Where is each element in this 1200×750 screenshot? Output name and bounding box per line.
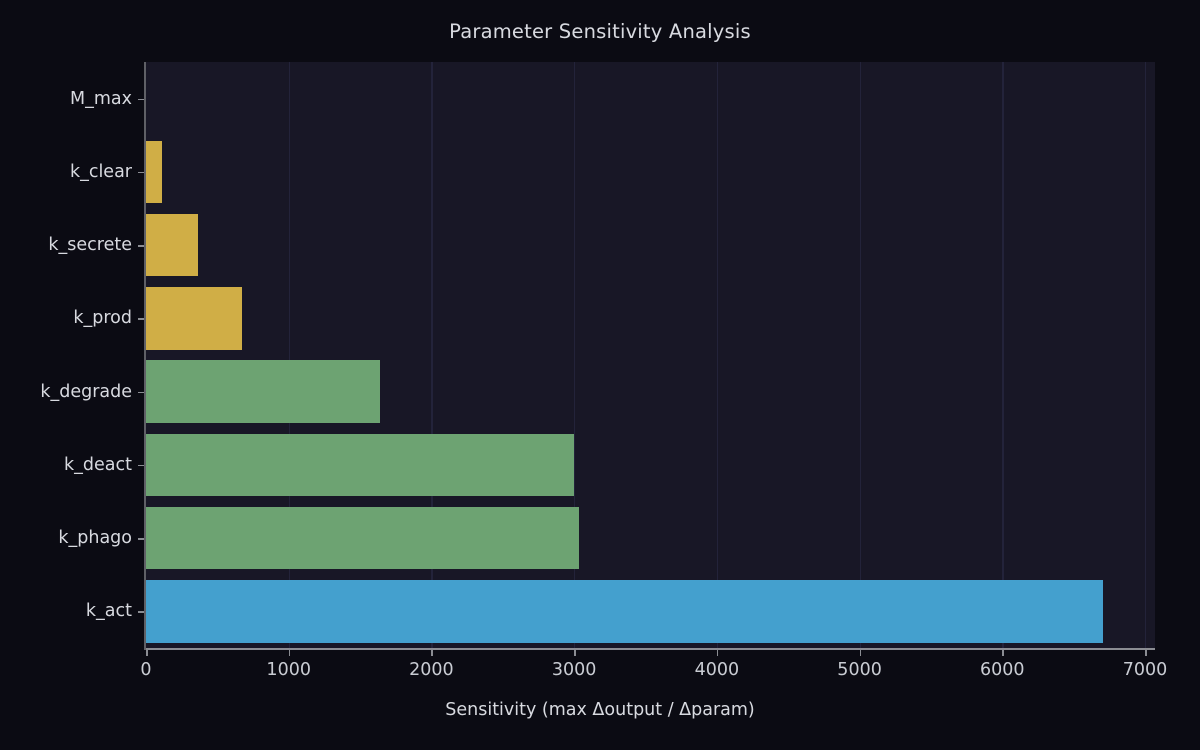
y-tick-label-k_secrete: k_secrete <box>48 235 132 255</box>
bar-k_deact <box>146 434 574 497</box>
bar-k_clear <box>146 141 162 204</box>
bar-row <box>146 434 1155 497</box>
bar-row <box>146 507 1155 570</box>
x-tick-label-0: 0 <box>140 660 151 680</box>
y-tick-label-k_degrade: k_degrade <box>40 382 132 402</box>
x-tick-mark-4000 <box>717 650 719 656</box>
y-tick-mark-k_prod <box>138 318 144 320</box>
y-tick-label-k_prod: k_prod <box>73 308 132 328</box>
bar-row <box>146 360 1155 423</box>
chart-title: Parameter Sensitivity Analysis <box>0 20 1200 43</box>
y-tick-label-M_max: M_max <box>70 89 132 109</box>
x-tick-mark-6000 <box>1002 650 1004 656</box>
x-axis-label: Sensitivity (max Δoutput / Δparam) <box>0 700 1200 720</box>
y-tick-mark-k_degrade <box>138 392 144 394</box>
bar-k_secrete <box>146 214 198 277</box>
y-tick-label-k_phago: k_phago <box>58 528 132 548</box>
bar-k_prod <box>146 287 242 350</box>
y-tick-mark-k_secrete <box>138 245 144 247</box>
y-tick-mark-k_deact <box>138 465 144 467</box>
x-tick-mark-3000 <box>574 650 576 656</box>
chart-figure: Parameter Sensitivity Analysis M_maxk_cl… <box>0 0 1200 750</box>
y-tick-mark-k_act <box>138 611 144 613</box>
y-tick-mark-k_phago <box>138 538 144 540</box>
bar-k_act <box>146 580 1103 643</box>
y-tick-label-k_act: k_act <box>86 601 132 621</box>
x-tick-mark-1000 <box>289 650 291 656</box>
x-tick-label-7000: 7000 <box>1123 660 1168 680</box>
y-tick-label-k_clear: k_clear <box>70 162 132 182</box>
x-tick-label-6000: 6000 <box>980 660 1025 680</box>
bar-row <box>146 580 1155 643</box>
plot-area <box>146 62 1155 648</box>
x-tick-label-4000: 4000 <box>695 660 740 680</box>
y-tick-mark-k_clear <box>138 172 144 174</box>
y-tick-label-k_deact: k_deact <box>64 455 132 475</box>
x-tick-mark-7000 <box>1145 650 1147 656</box>
x-tick-mark-5000 <box>860 650 862 656</box>
bar-row <box>146 141 1155 204</box>
x-tick-mark-2000 <box>431 650 433 656</box>
x-tick-label-1000: 1000 <box>266 660 311 680</box>
bar-k_phago <box>146 507 579 570</box>
x-tick-mark-0 <box>146 650 148 656</box>
x-tick-label-5000: 5000 <box>837 660 882 680</box>
bar-row <box>146 214 1155 277</box>
bar-row <box>146 287 1155 350</box>
x-tick-label-2000: 2000 <box>409 660 454 680</box>
bar-row <box>146 67 1155 130</box>
y-tick-mark-M_max <box>138 99 144 101</box>
bar-k_degrade <box>146 360 380 423</box>
x-tick-label-3000: 3000 <box>552 660 597 680</box>
y-axis-spine <box>144 62 146 650</box>
